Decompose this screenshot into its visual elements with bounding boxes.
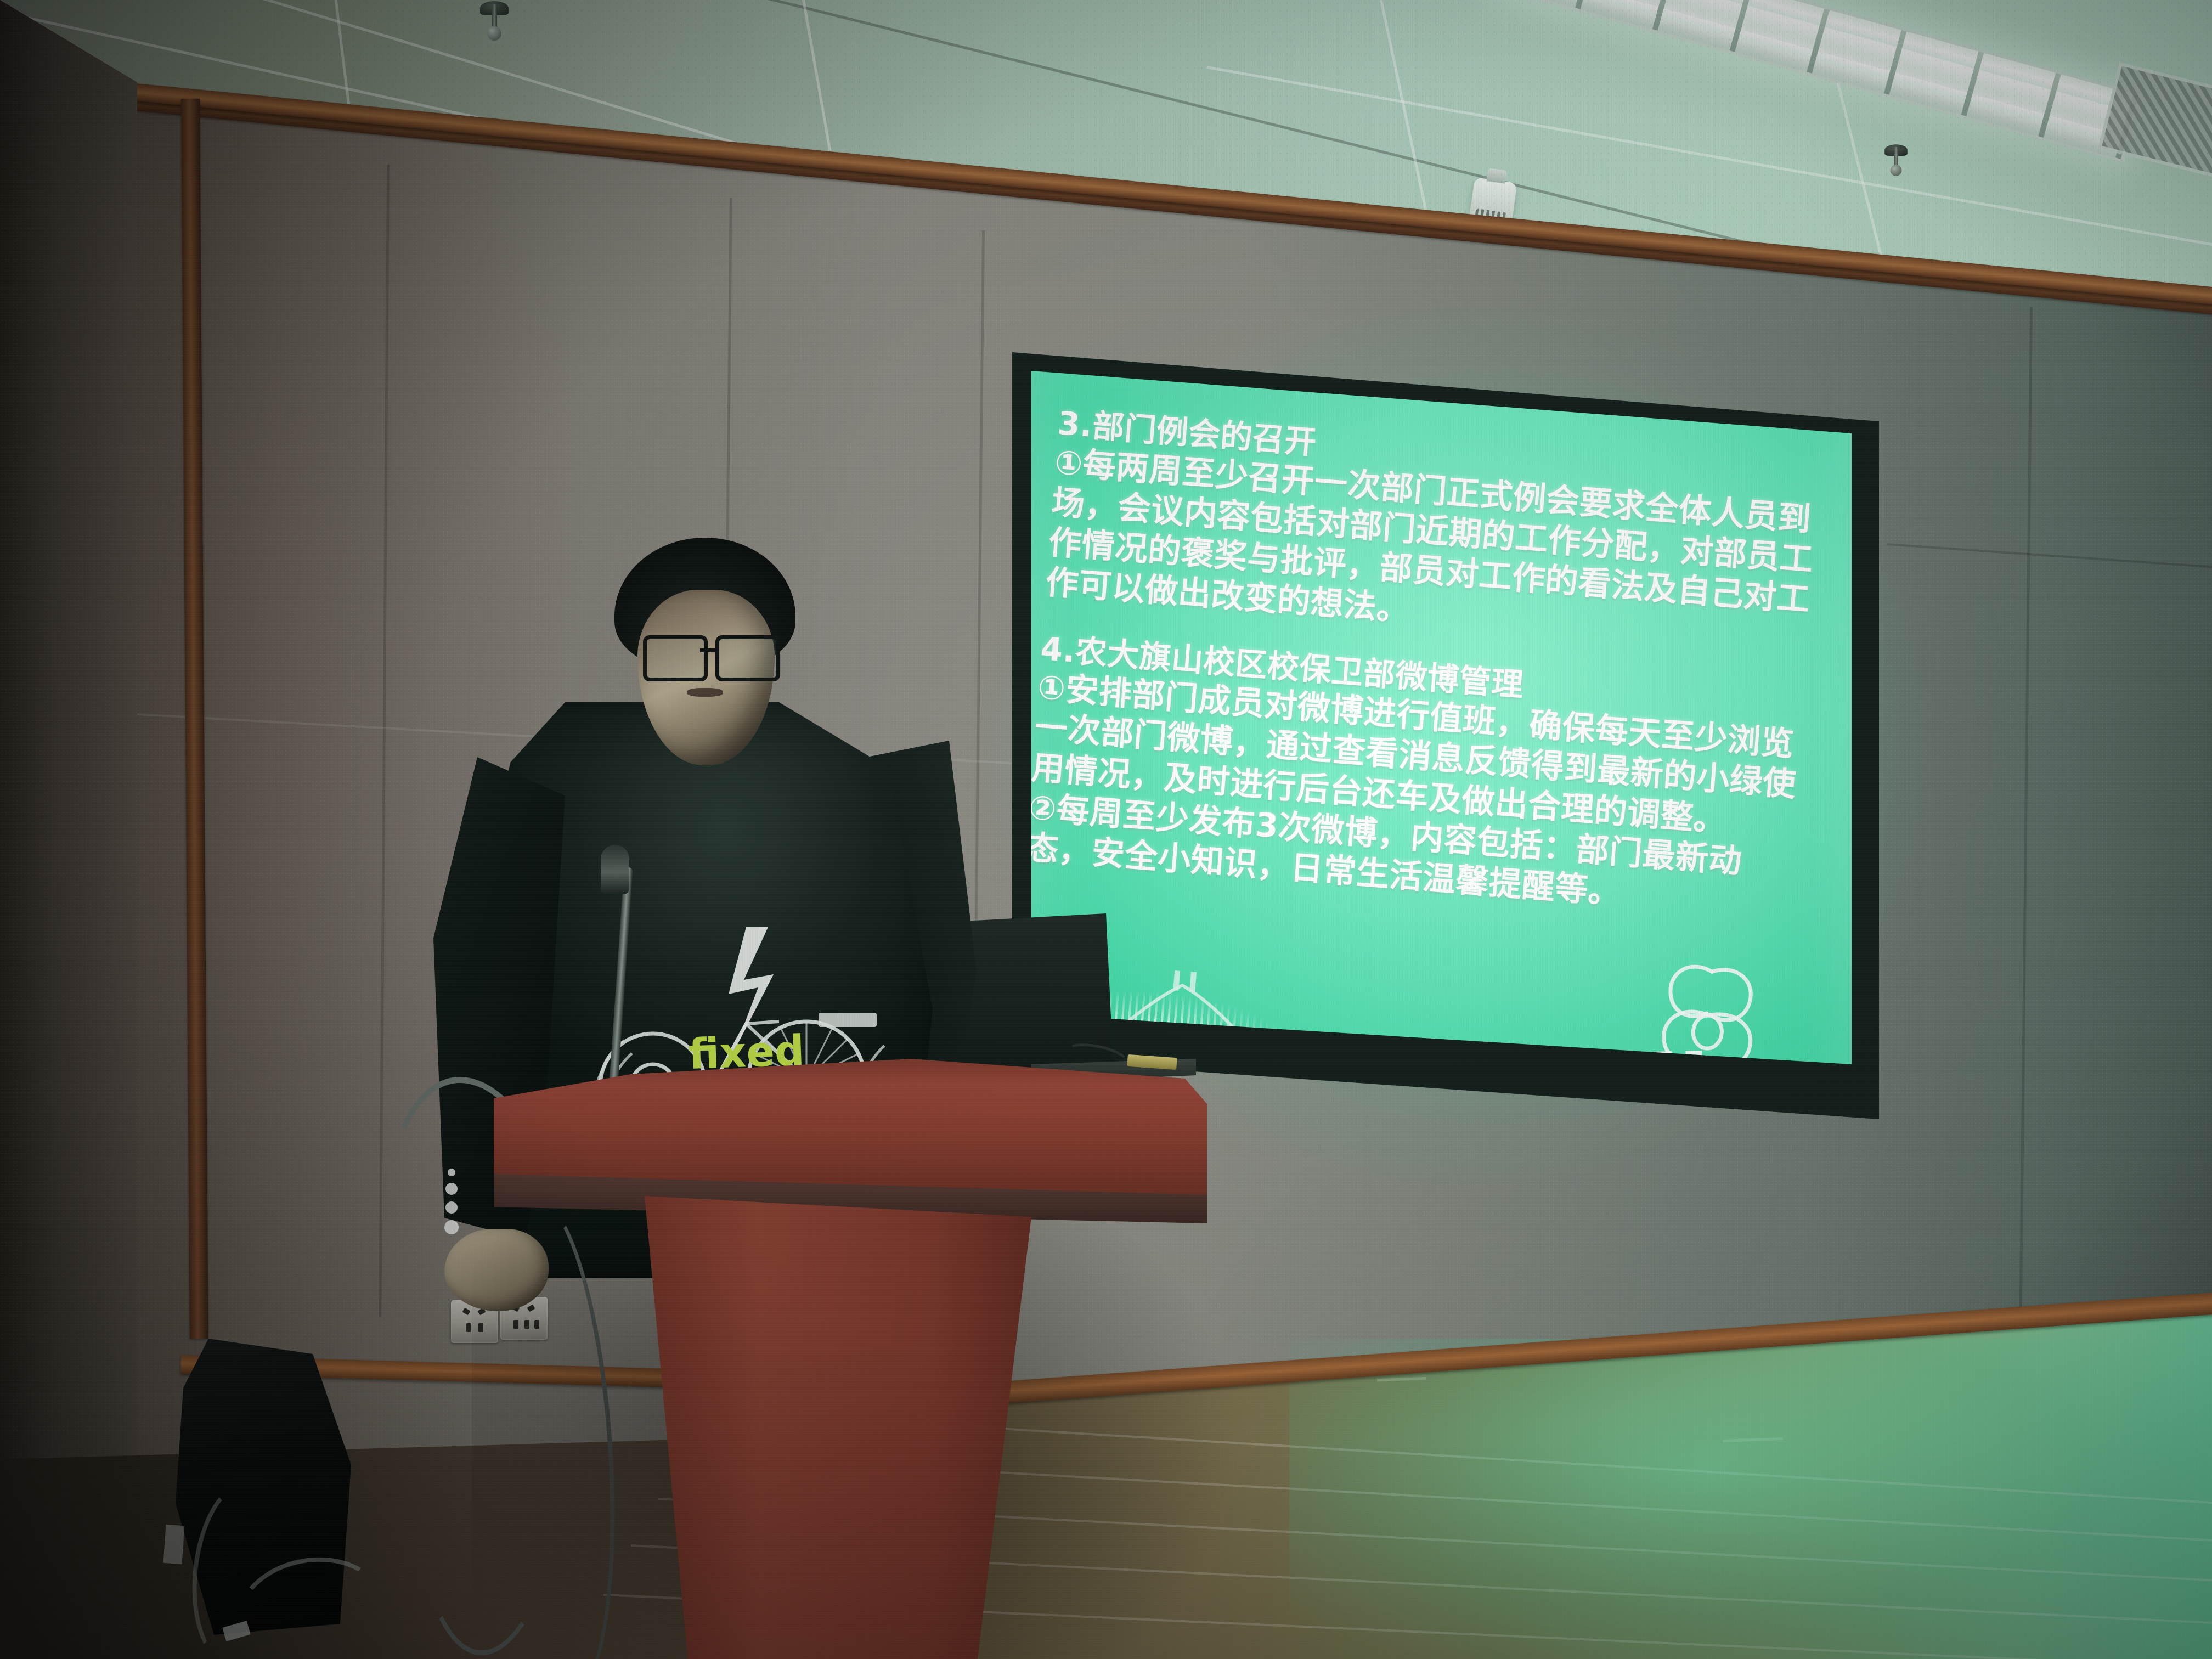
- ceiling-light-fixture: [1494, 0, 2142, 163]
- eyeglasses-icon: [643, 635, 774, 676]
- projection-screen: 3.部门例会的召开 ①每两周至少召开一次部门正式例会要求全体人员到场，会议内容包…: [1031, 351, 1852, 1097]
- photo-scene: 3.部门例会的召开 ①每两周至少召开一次部门正式例会要求全体人员到场，会议内容包…: [0, 0, 2212, 1659]
- sprinkler-head-right: [1884, 147, 1908, 182]
- side-wall-left: [0, 0, 137, 1659]
- air-vent: [2098, 62, 2212, 180]
- microphone-head: [601, 845, 629, 894]
- slide-content: 3.部门例会的召开 ①每两周至少召开一次部门正式例会要求全体人员到场，会议内容包…: [1031, 351, 1849, 1097]
- slide-text-block: 3.部门例会的召开 ①每两周至少召开一次部门正式例会要求全体人员到场，会议内容包…: [1031, 404, 1825, 926]
- backpack-patch: [163, 1525, 185, 1564]
- presenter-head: [614, 538, 795, 774]
- sprinkler-head-left: [480, 4, 509, 48]
- presenter-mouth: [687, 688, 723, 697]
